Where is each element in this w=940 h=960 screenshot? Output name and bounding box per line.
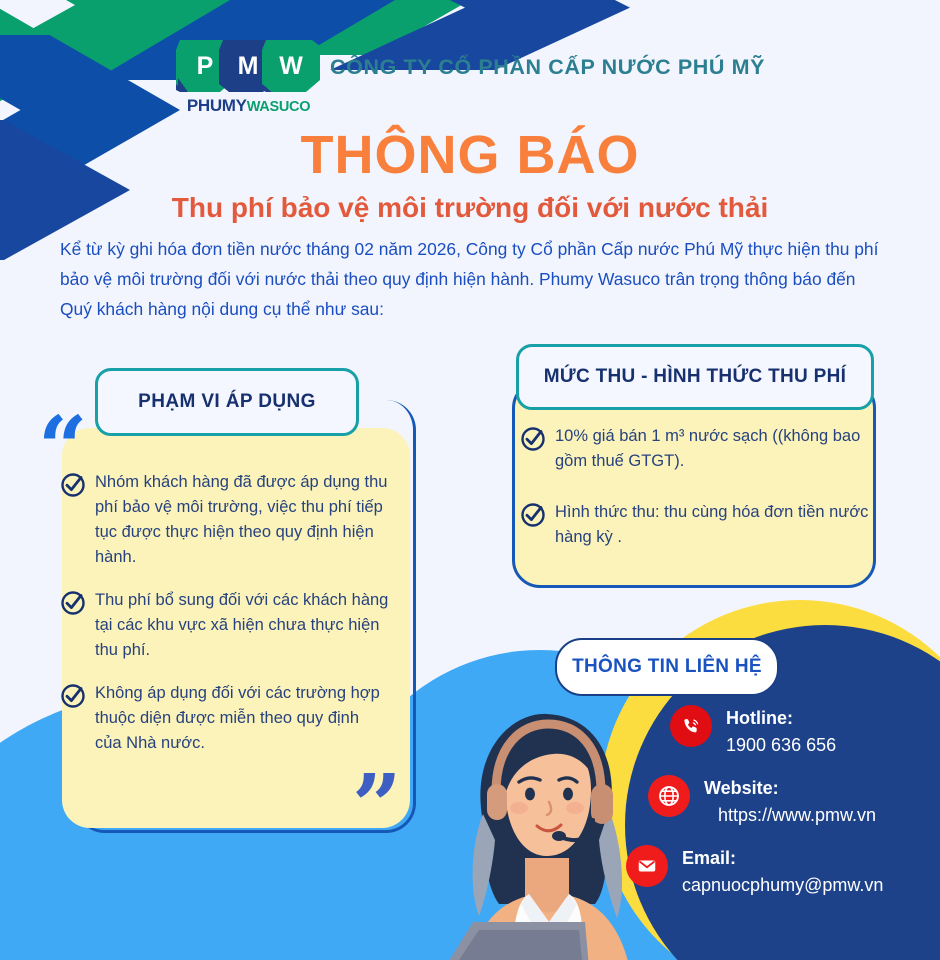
logo-word-wasuco: WASUCO	[247, 99, 310, 115]
scope-bullet-list: Nhóm khách hàng đã được áp dụng thu phí …	[60, 470, 390, 774]
rates-heading-text: MỨC THU - HÌNH THỨC THU PHÍ	[544, 366, 846, 388]
list-item: Thu phí bổ sung đối với các khách hàng t…	[60, 588, 390, 663]
hotline-value: 1900 636 656	[726, 732, 836, 759]
scope-item-text: Nhóm khách hàng đã được áp dụng thu phí …	[95, 470, 390, 570]
scope-heading-pill: PHẠM VI ÁP DỤNG	[95, 368, 359, 436]
hotline-text: Hotline: 1900 636 656	[726, 705, 836, 759]
website-label: Website:	[704, 775, 876, 802]
rates-bullet-list: 10% giá bán 1 m³ nước sạch ((không bao g…	[520, 424, 870, 568]
email-label: Email:	[682, 845, 883, 872]
contact-row-website[interactable]: Website: https://www.pmw.vn	[648, 775, 940, 829]
rates-heading-pill: MỨC THU - HÌNH THỨC THU PHÍ	[516, 344, 874, 410]
check-icon	[60, 472, 86, 498]
email-icon	[626, 845, 668, 887]
check-icon	[520, 426, 546, 452]
list-item: 10% giá bán 1 m³ nước sạch ((không bao g…	[520, 424, 870, 474]
company-name: CÔNG TY CỔ PHẦN CẤP NƯỚC PHÚ MỸ	[330, 55, 765, 80]
rates-item-text: Hình thức thu: thu cùng hóa đơn tiền nướ…	[555, 500, 870, 550]
website-text: Website: https://www.pmw.vn	[704, 775, 876, 829]
contact-list: Hotline: 1900 636 656 Website: https://w…	[670, 705, 940, 915]
hotline-label: Hotline:	[726, 705, 836, 732]
phone-icon	[670, 705, 712, 747]
logo-flag-w: W	[262, 40, 320, 92]
list-item: Không áp dụng đối với các trường hợp thu…	[60, 681, 390, 756]
rates-item-text: 10% giá bán 1 m³ nước sạch ((không bao g…	[555, 424, 870, 474]
page-subtitle: Thu phí bảo vệ môi trường đối với nước t…	[0, 192, 940, 224]
decor-chevron-green-left	[0, 0, 80, 120]
logo-wordmark: PHUMYWASUCO	[176, 96, 321, 116]
contact-heading-pill: THÔNG TIN LIÊN HỆ	[555, 638, 779, 696]
check-icon	[520, 502, 546, 528]
scope-heading-text: PHẠM VI ÁP DỤNG	[138, 391, 316, 413]
logo-word-phumy: PHUMY	[187, 96, 247, 115]
check-icon	[60, 590, 86, 616]
contact-row-hotline: Hotline: 1900 636 656	[670, 705, 940, 759]
logo-flags: P M W	[176, 40, 321, 96]
check-icon	[60, 683, 86, 709]
scope-item-text: Thu phí bổ sung đối với các khách hàng t…	[95, 588, 390, 663]
logo-letter-w: W	[262, 40, 320, 92]
globe-icon	[648, 775, 690, 817]
email-text: Email: capnuocphumy@pmw.vn	[682, 845, 883, 899]
email-value[interactable]: capnuocphumy@pmw.vn	[682, 872, 883, 899]
intro-paragraph: Kể từ kỳ ghi hóa đơn tiền nước tháng 02 …	[60, 234, 884, 324]
list-item: Hình thức thu: thu cùng hóa đơn tiền nướ…	[520, 500, 870, 550]
company-logo: P M W PHUMYWASUCO	[176, 40, 321, 122]
scope-item-text: Không áp dụng đối với các trường hợp thu…	[95, 681, 390, 756]
list-item: Nhóm khách hàng đã được áp dụng thu phí …	[60, 470, 390, 570]
announcement-poster: P M W PHUMYWASUCO CÔNG TY CỔ PHẦN CẤP NƯ…	[0, 0, 940, 960]
contact-heading-text: THÔNG TIN LIÊN HỆ	[572, 656, 762, 678]
contact-row-email[interactable]: Email: capnuocphumy@pmw.vn	[626, 845, 940, 899]
page-title: THÔNG BÁO	[0, 124, 940, 186]
website-value[interactable]: https://www.pmw.vn	[704, 802, 876, 829]
